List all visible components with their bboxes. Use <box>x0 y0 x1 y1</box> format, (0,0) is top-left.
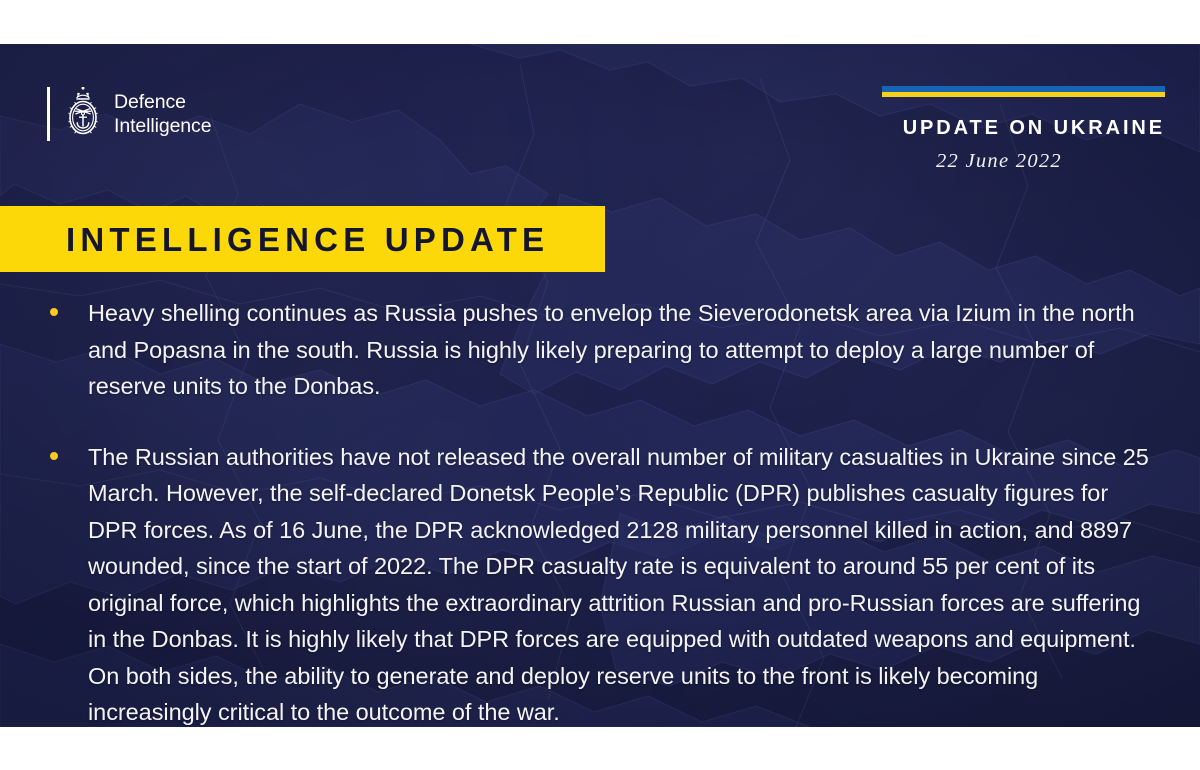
bullet-list: Heavy shelling continues as Russia pushe… <box>46 295 1156 727</box>
bullet-text: Heavy shelling continues as Russia pushe… <box>88 295 1156 405</box>
intelligence-update-banner: INTELLIGENCE UPDATE <box>0 206 605 272</box>
ukraine-flag-bar-icon <box>882 86 1165 97</box>
defence-intelligence-logo: Defence Intelligence <box>47 86 211 142</box>
list-item: The Russian authorities have not release… <box>46 439 1156 728</box>
logo-divider-rule <box>47 87 50 141</box>
list-item: Heavy shelling continues as Russia pushe… <box>46 295 1156 405</box>
logo-wordmark: Defence Intelligence <box>114 90 211 138</box>
header-title: UPDATE ON UKRAINE <box>882 116 1165 140</box>
logo-line-2: Intelligence <box>114 114 211 138</box>
flag-stripe-yellow <box>882 92 1165 98</box>
bullet-dot-icon <box>50 308 58 316</box>
intelligence-update-graphic: Defence Intelligence UPDATE ON UKRAINE 2… <box>0 0 1200 770</box>
bullet-dot-icon <box>50 452 58 460</box>
header-date: 22 June 2022 <box>882 149 1062 173</box>
mod-tri-service-crest-icon <box>63 87 103 141</box>
logo-line-1: Defence <box>114 90 211 114</box>
banner-label: INTELLIGENCE UPDATE <box>66 223 549 256</box>
navy-card: Defence Intelligence UPDATE ON UKRAINE 2… <box>0 44 1200 727</box>
header-right-block: UPDATE ON UKRAINE 22 June 2022 <box>882 86 1165 173</box>
bullet-text: The Russian authorities have not release… <box>88 439 1156 728</box>
